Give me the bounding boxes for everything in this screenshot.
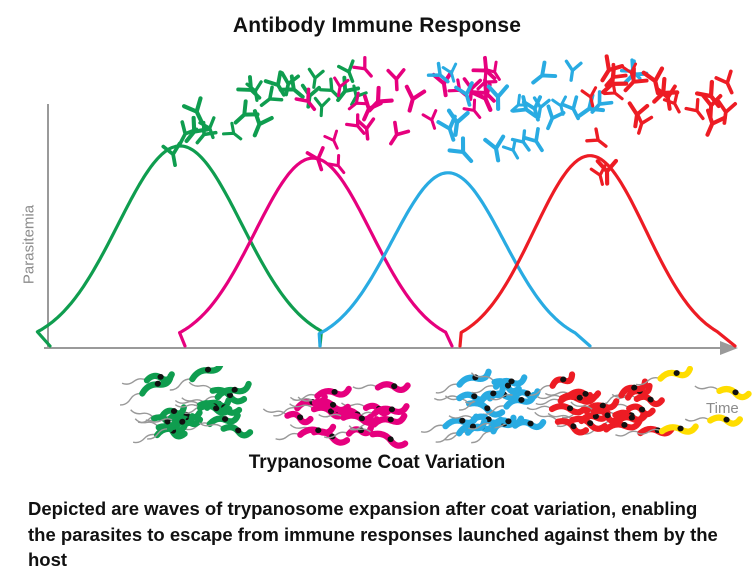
antibody-clusters: [163, 56, 739, 186]
y-axis-label: Parasitemia: [21, 180, 38, 310]
blue-antibody-icon: [503, 140, 523, 161]
figure-caption: Depicted are waves of trypanosome expans…: [28, 496, 728, 573]
green-antibody-icon: [257, 87, 282, 111]
subtitle: Trypanosome Coat Variation: [0, 452, 754, 474]
yellow-trypanosome: [695, 380, 749, 400]
blue-antibody-icon: [450, 138, 478, 167]
magenta-antibody-icon: [384, 123, 408, 148]
page-title: Antibody Immune Response: [0, 14, 754, 38]
parasitemia-wave-chart: [0, 48, 754, 368]
blue-antibody-icon: [485, 137, 507, 162]
magenta-antibody-icon: [307, 148, 329, 172]
magenta-antibody-icon: [401, 87, 424, 113]
red-antibody-icon: [686, 100, 709, 123]
yellow-trypanosome: [685, 413, 740, 426]
chart-plot-area: Parasitemia Time: [0, 48, 754, 368]
red-antibody-icon: [716, 71, 739, 96]
green-antibody-icon: [314, 98, 329, 116]
trypanosome-illustration-band: [0, 366, 754, 450]
green-antibody-icon: [184, 98, 210, 126]
green-antibody-icon: [307, 69, 323, 88]
parasitemia-wave-curves: [37, 146, 735, 346]
green-antibody-icon: [224, 123, 245, 144]
magenta-antibody-icon: [354, 58, 377, 81]
wave-curve-1: [37, 146, 321, 346]
chart-axes: [44, 104, 736, 348]
magenta-antibody-icon: [325, 131, 343, 151]
trypanosome-population-groups: [0, 366, 754, 450]
red-antibody-icon: [587, 129, 611, 152]
magenta-trypanosome: [353, 381, 408, 392]
green-antibody-icon: [230, 101, 258, 129]
wave-curve-4: [460, 156, 735, 346]
magenta-antibody-icon: [388, 70, 405, 90]
blue-antibody-icon: [528, 63, 555, 90]
blue-antibody-icon: [562, 97, 585, 122]
blue-antibody-icon: [540, 106, 563, 131]
blue-trypanosome: [434, 392, 486, 401]
blue-antibody-icon: [564, 61, 581, 81]
